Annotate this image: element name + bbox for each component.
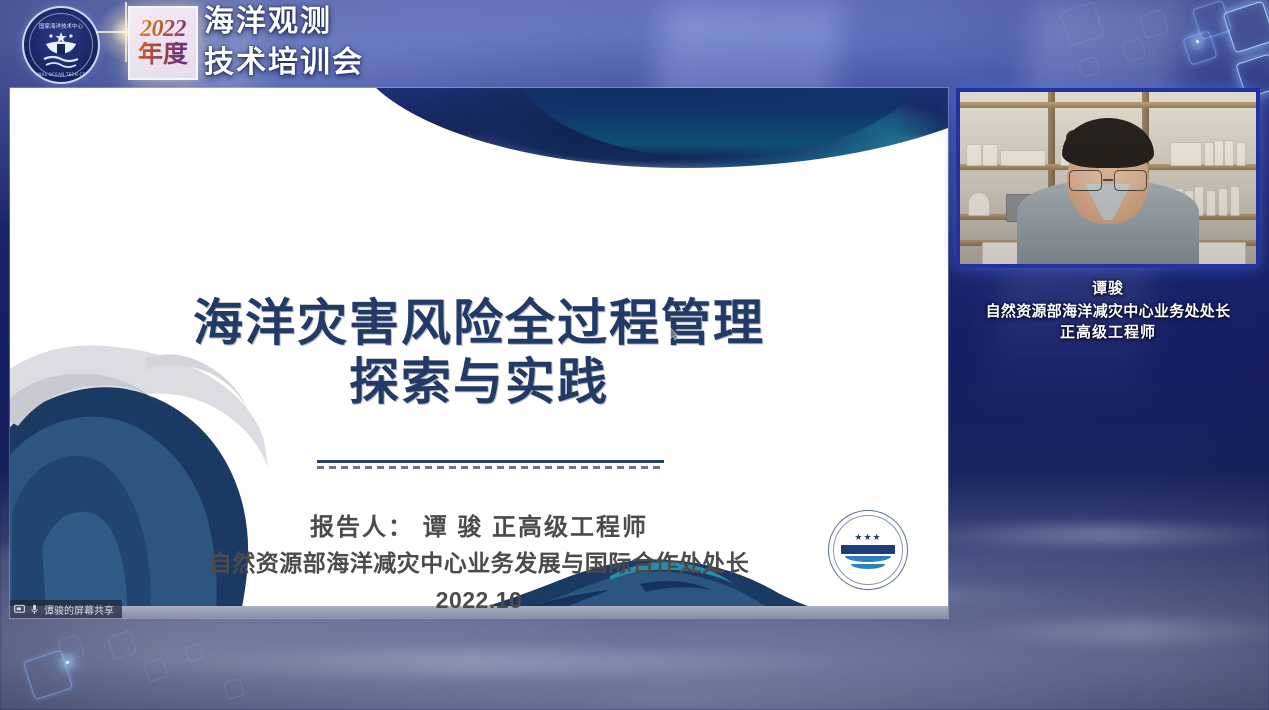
slide-title: 海洋灾害风险全过程管理 探索与实践 xyxy=(10,294,948,412)
svg-text:NATIONAL OCEAN TECH CENTER: NATIONAL OCEAN TECH CENTER xyxy=(25,72,98,77)
seal-stars: ★★★ xyxy=(829,532,907,543)
shared-slide[interactable]: 海洋灾害风险全过程管理 探索与实践 报告人： 谭 骏 正高级工程师 自然资源部海… xyxy=(10,88,948,618)
speaker-name: 谭骏 xyxy=(956,278,1260,301)
event-title: 海洋观测 技术培训会 xyxy=(204,2,364,84)
slide-divider xyxy=(317,460,664,469)
speaker-role-line2: 正高级工程师 xyxy=(956,322,1260,344)
sparkle-icon xyxy=(66,661,69,664)
webinar-screen: 国家海洋技术中心 NATIONAL OCEAN TECH CENTER 2022… xyxy=(0,0,1269,710)
divider-dashed-line xyxy=(317,466,664,469)
event-title-line2: 技术培训会 xyxy=(204,43,364,84)
divider-solid-line xyxy=(317,460,664,463)
affiliation-line: 自然资源部海洋减灾中心业务发展与国际合作处处长 xyxy=(10,546,948,581)
mouse-cursor-icon xyxy=(670,328,679,341)
microphone-icon xyxy=(30,604,39,615)
date-line: 2022.10 xyxy=(10,581,948,619)
presenter-line: 报告人： 谭 骏 正高级工程师 xyxy=(10,510,948,546)
ontc-logo: 国家海洋技术中心 NATIONAL OCEAN TECH CENTER xyxy=(22,6,96,80)
seal-bar xyxy=(841,545,894,554)
video-shading-overlay xyxy=(960,92,1256,264)
speaker-role-line1: 自然资源部海洋减灾中心业务处处长 xyxy=(956,301,1260,323)
screen-share-label: 谭骏的屏幕共享 xyxy=(44,602,114,617)
speaker-video-feed xyxy=(960,92,1256,264)
speaker-name-card: 谭骏 自然资源部海洋减灾中心业务处处长 正高级工程师 xyxy=(956,278,1260,344)
event-title-line1: 海洋观测 xyxy=(204,2,364,43)
nmhms-seal-icon: ★★★ xyxy=(828,510,908,590)
screen-share-indicator[interactable]: 谭骏的屏幕共享 xyxy=(10,600,122,618)
slide-subtitle-block: 报告人： 谭 骏 正高级工程师 自然资源部海洋减灾中心业务发展与国际合作处处长 … xyxy=(10,510,948,618)
speaker-video-panel[interactable] xyxy=(956,88,1260,268)
svg-text:国家海洋技术中心: 国家海洋技术中心 xyxy=(39,22,84,30)
year-word: 年度 xyxy=(138,42,188,68)
slide-title-line1: 海洋灾害风险全过程管理 xyxy=(10,294,948,353)
monitor-icon xyxy=(14,604,25,615)
slide-title-line2: 探索与实践 xyxy=(10,353,948,412)
year-badge: 2022 年度 xyxy=(128,6,198,80)
event-header: 国家海洋技术中心 NATIONAL OCEAN TECH CENTER 2022… xyxy=(0,0,1269,88)
year-number: 2022 xyxy=(140,17,186,41)
ontc-seal-icon: 国家海洋技术中心 NATIONAL OCEAN TECH CENTER xyxy=(22,6,100,84)
